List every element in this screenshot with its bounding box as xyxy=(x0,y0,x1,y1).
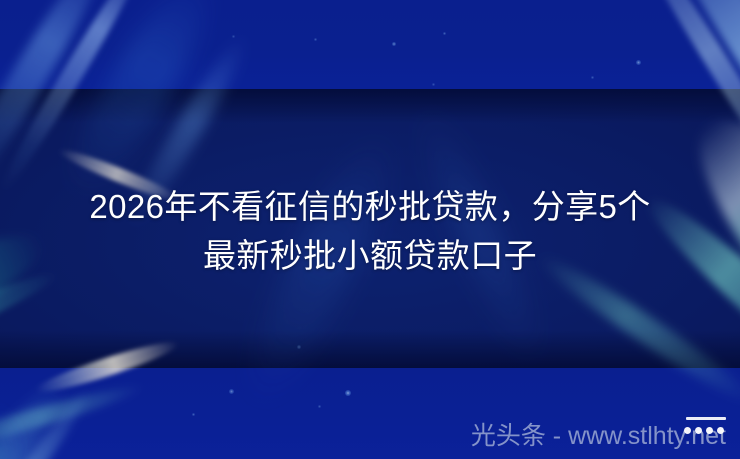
background-band-top xyxy=(0,0,740,89)
background-shade-lower xyxy=(0,330,740,368)
particle-glow xyxy=(345,390,351,396)
logo-dot xyxy=(706,427,713,434)
light-streak-bottomband-2 xyxy=(0,385,96,459)
teal-streak-right-1 xyxy=(662,85,740,459)
particle-glow xyxy=(229,389,234,394)
light-streak-bottomband-1 xyxy=(0,371,77,459)
lens-highlight-upper xyxy=(56,144,182,206)
particle-glow xyxy=(636,60,641,65)
title-line-2: 最新秒批小额贷款口子 xyxy=(0,231,740,280)
light-streak-topright-2 xyxy=(622,0,740,211)
particle-glow xyxy=(392,42,396,46)
particle-glow xyxy=(443,32,446,35)
particle-glow xyxy=(314,38,317,41)
particle-glow xyxy=(192,413,195,416)
particle-glow xyxy=(318,405,321,408)
logo-dot xyxy=(684,427,691,434)
particle-glow xyxy=(297,345,301,349)
teal-streak-right-3 xyxy=(532,247,740,414)
poster-title: 2026年不看征信的秒批贷款，分享5个 最新秒批小额贷款口子 xyxy=(0,182,740,280)
logo-dot xyxy=(717,427,724,434)
lens-highlight-lower xyxy=(33,335,181,398)
light-streak-topleft-3 xyxy=(50,0,230,208)
background-band-middle xyxy=(0,89,740,368)
particle-glow xyxy=(591,76,594,79)
teal-streak-right-2 xyxy=(635,185,740,415)
dots-bar-logo-icon xyxy=(682,415,730,441)
light-streak-topleft-4 xyxy=(120,29,256,231)
teal-streak-left-2 xyxy=(0,261,63,459)
light-streak-topright-1 xyxy=(641,0,740,267)
light-streak-center-2 xyxy=(405,99,555,371)
logo-bar xyxy=(686,417,726,420)
light-streak-topleft-2 xyxy=(0,0,150,196)
light-streak-center-1 xyxy=(227,122,412,418)
background-shade-upper xyxy=(0,89,740,123)
particle-glow xyxy=(232,35,235,38)
teal-streak-bottomleft-1 xyxy=(0,332,5,459)
poster-canvas: 2026年不看征信的秒批贷款，分享5个 最新秒批小额贷款口子 光头条 - www… xyxy=(0,0,740,459)
teal-streak-left-1 xyxy=(0,206,59,459)
logo-dot xyxy=(695,427,702,434)
teal-streak-bottomleft-2 xyxy=(0,378,147,459)
title-line-1: 2026年不看征信的秒批贷款，分享5个 xyxy=(0,182,740,231)
light-streak-topleft-1 xyxy=(0,0,119,217)
light-streak-bottomband-3 xyxy=(0,395,30,459)
particle-glow xyxy=(432,83,435,86)
